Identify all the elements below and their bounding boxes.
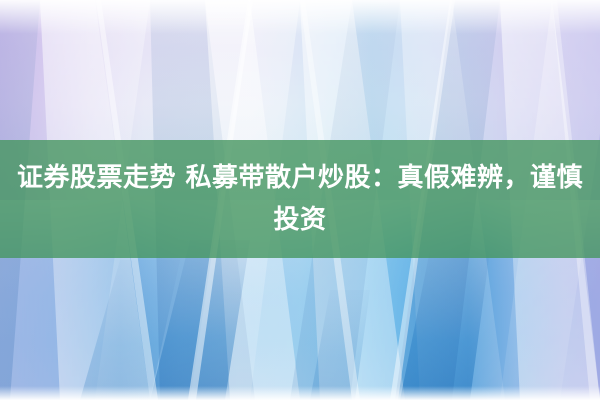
banner-image: 证券股票走势 私募带散户炒股：真假难辨，谨慎投资 — [0, 0, 600, 400]
caption-title: 证券股票走势 私募带散户炒股：真假难辨，谨慎投资 — [0, 157, 600, 241]
caption-band: 证券股票走势 私募带散户炒股：真假难辨，谨慎投资 — [0, 140, 600, 258]
bottom-white-haze — [0, 386, 600, 400]
top-white-haze — [0, 0, 600, 34]
